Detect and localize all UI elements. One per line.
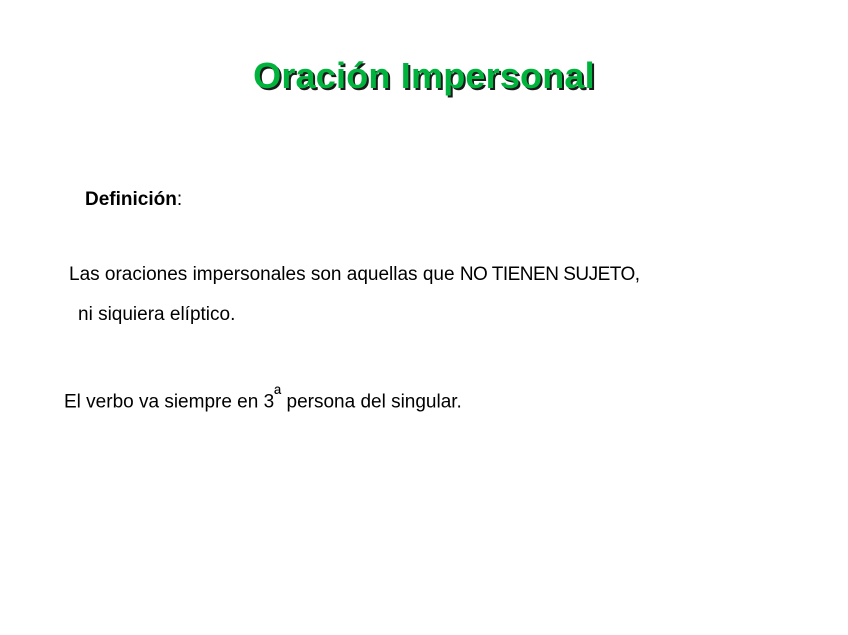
body-text-line-1-emphasis: NO TIENEN SUJETO,: [460, 264, 640, 285]
body-text-line-1: Las oraciones impersonales son aquellas …: [69, 262, 640, 287]
body-text-line-3-lead: El verbo va siempre en 3: [64, 391, 274, 412]
body-text-line-3-tail: persona del singular.: [281, 391, 462, 412]
definition-label-text: Definición: [85, 189, 177, 210]
body-text-line-1-lead: Las oraciones impersonales son aquellas …: [69, 264, 460, 285]
body-text-line-3: El verbo va siempre en 3ª persona del si…: [64, 382, 462, 414]
definition-label-colon: :: [177, 189, 182, 210]
slide-title: Oración Impersonal: [0, 54, 848, 98]
body-text-line-2: ni siquiera elíptico.: [78, 302, 235, 327]
definition-label: Definición:: [85, 188, 182, 212]
slide-canvas: Oración Impersonal Definición: Las oraci…: [0, 0, 848, 635]
